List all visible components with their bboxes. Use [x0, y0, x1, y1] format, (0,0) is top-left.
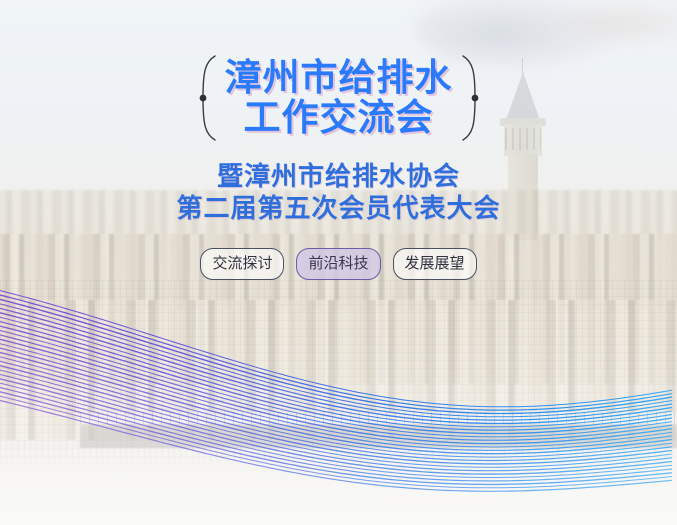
title-block: 漳州市给排水 工作交流会 — [185, 54, 493, 140]
poster-content: 漳州市给排水 工作交流会 暨漳州市给排水协会 第二届第五次会员代表大会 交流探讨… — [0, 0, 677, 525]
subtitle-line-2: 第二届第五次会员代表大会 — [176, 193, 500, 223]
decorative-bracket-left-icon — [197, 54, 219, 142]
tag-pill-0[interactable]: 交流探讨 — [200, 248, 284, 280]
tag-list: 交流探讨 前沿科技 发展展望 — [200, 248, 476, 280]
subtitle: 暨漳州市给排水协会 第二届第五次会员代表大会 — [176, 160, 500, 224]
main-title-line-1: 漳州市给排水 — [225, 57, 453, 98]
tag-pill-2[interactable]: 发展展望 — [393, 248, 477, 280]
main-title: 漳州市给排水 工作交流会 — [225, 58, 453, 138]
poster-canvas: 漳州市给排水 工作交流会 暨漳州市给排水协会 第二届第五次会员代表大会 交流探讨… — [0, 0, 677, 525]
main-title-line-2: 工作交流会 — [225, 98, 453, 138]
decorative-bracket-right-icon — [459, 54, 481, 142]
tag-pill-1[interactable]: 前沿科技 — [296, 248, 380, 280]
subtitle-line-1: 暨漳州市给排水协会 — [217, 161, 460, 191]
